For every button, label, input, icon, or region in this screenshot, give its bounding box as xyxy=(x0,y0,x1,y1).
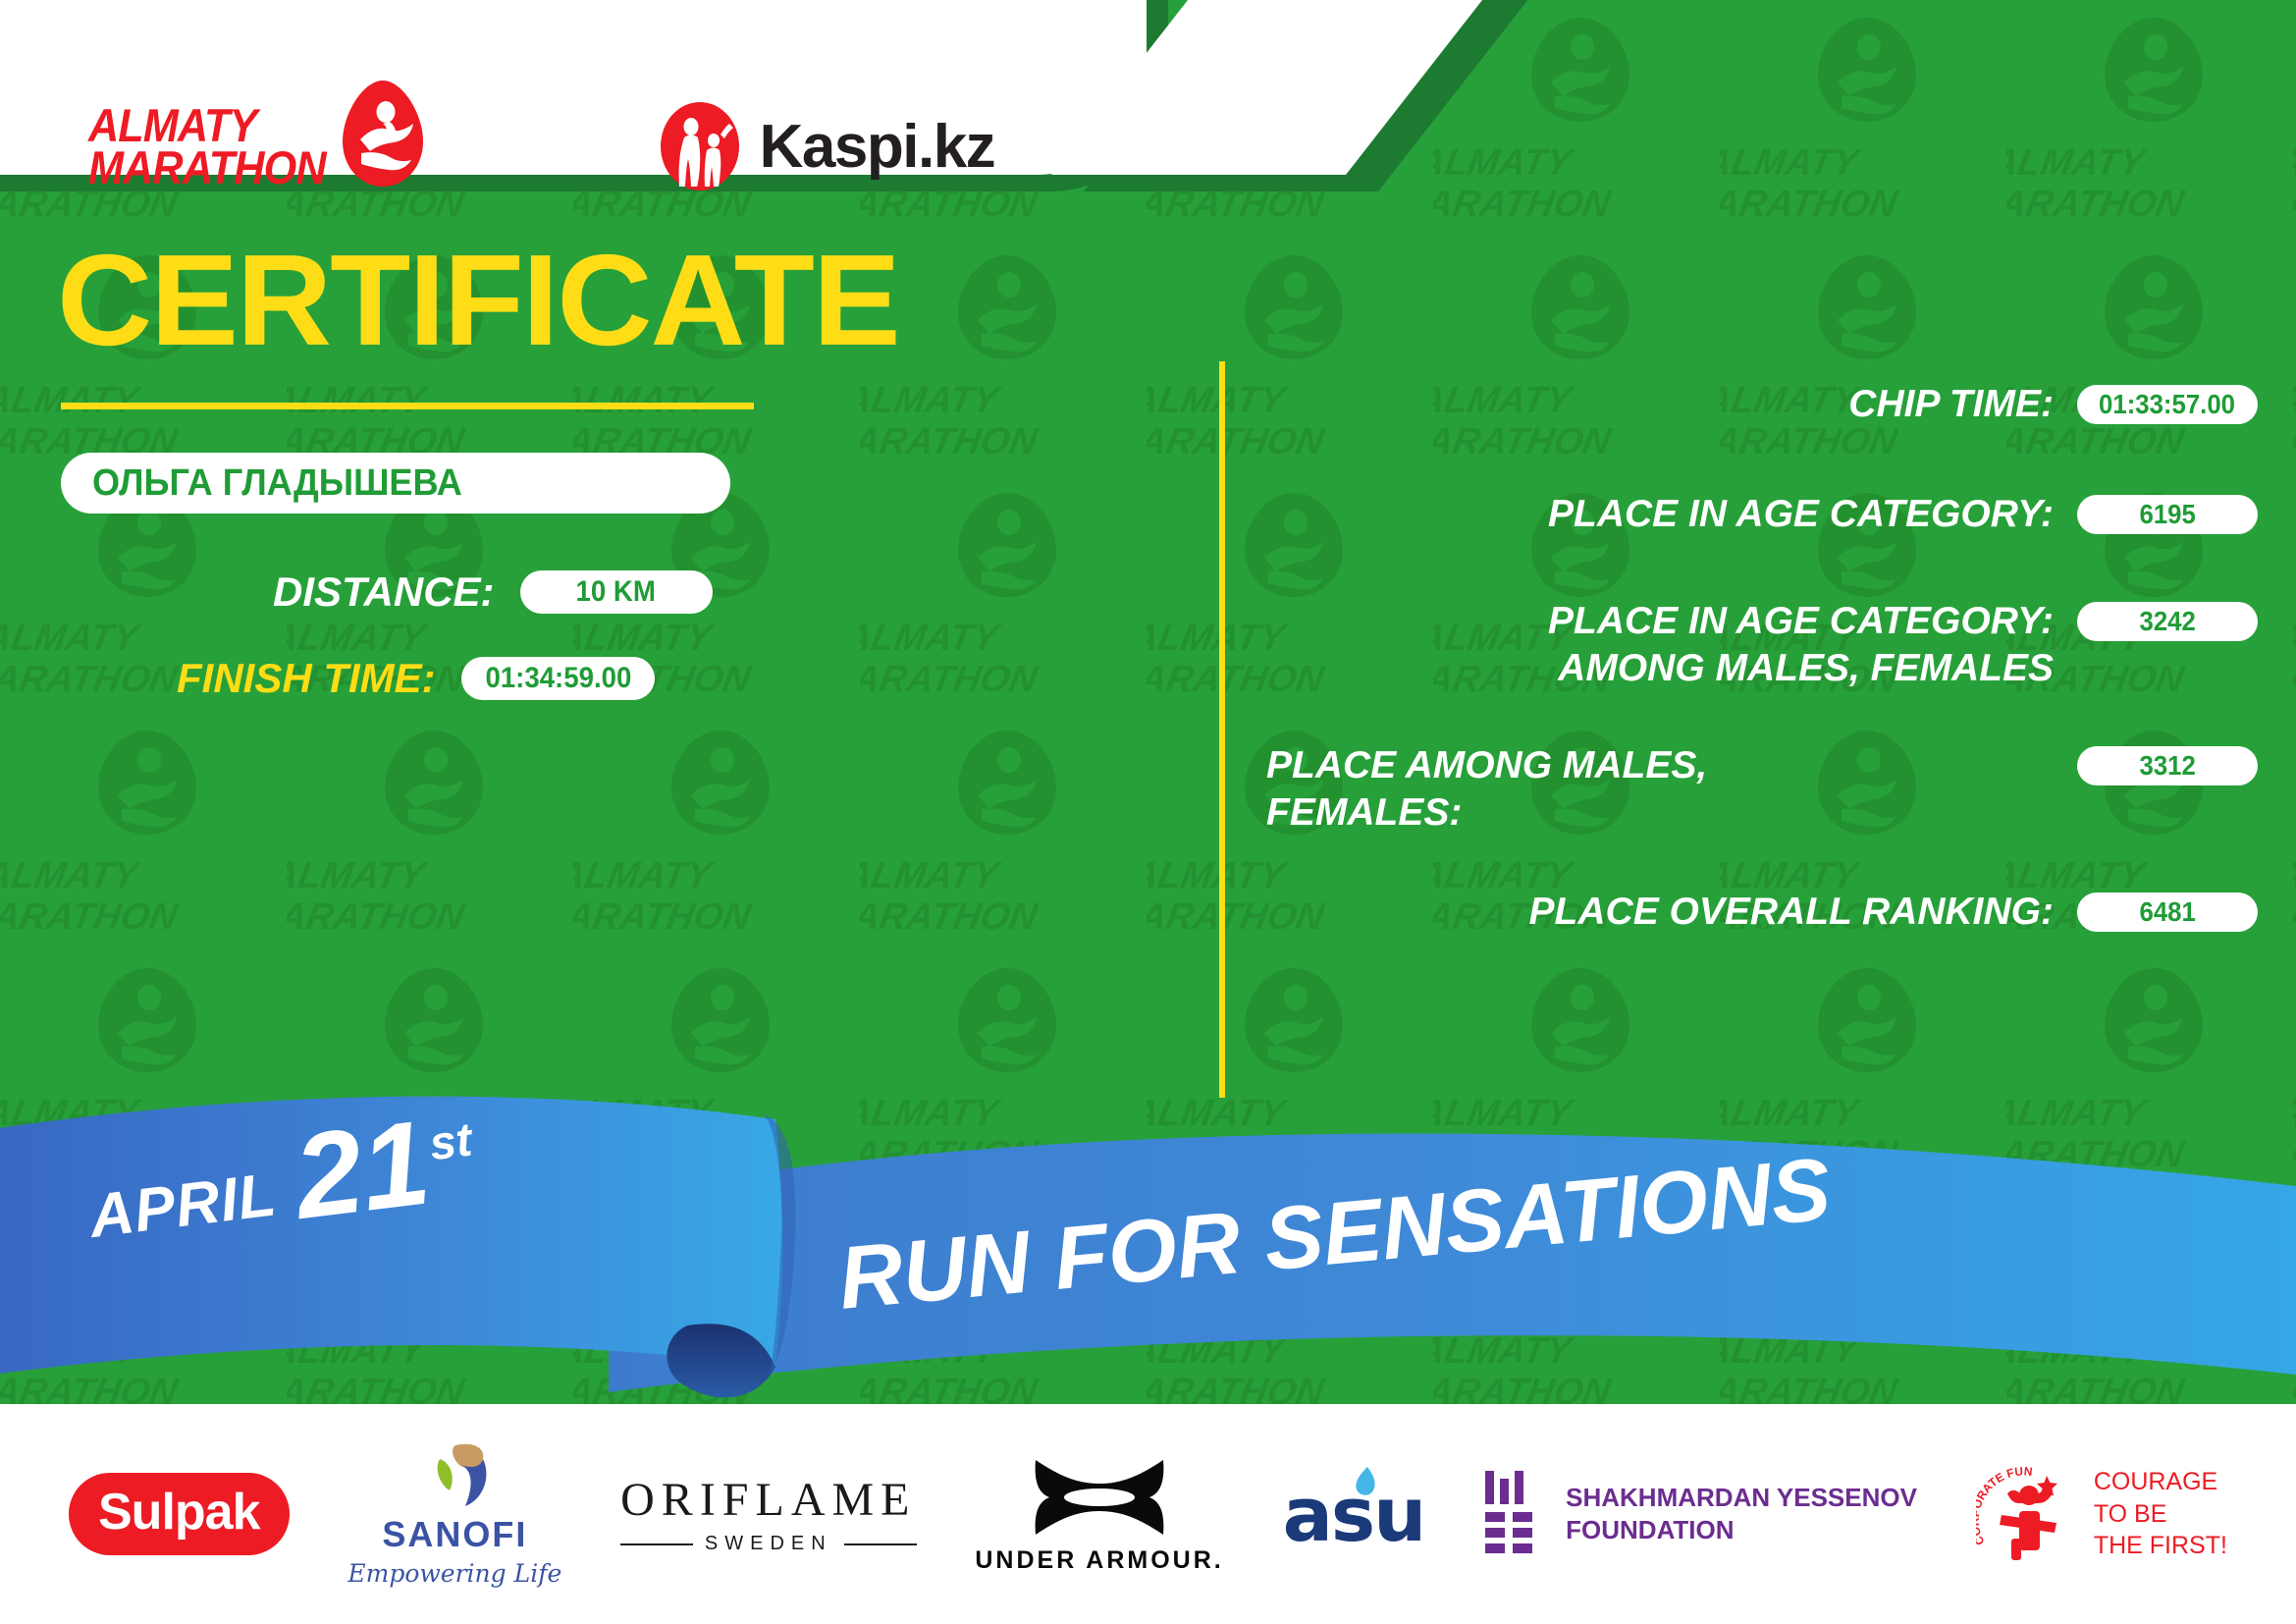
kaspi-logo: Kaspi.kz xyxy=(656,101,995,191)
sponsor-strip: Sulpak SANOFI Empowering Life ORIFLAME S… xyxy=(0,1404,2296,1624)
result-label: PLACE IN AGE CATEGORY: AMONG MALES, FEMA… xyxy=(1266,598,2054,691)
result-row: PLACE IN AGE CATEGORY: 6195 xyxy=(1266,491,2258,538)
result-value: 3312 xyxy=(2139,750,2195,782)
yessenov-wordmark: SHAKHMARDAN YESSENOV FOUNDATION xyxy=(1566,1482,1917,1547)
result-value-pill: 6195 xyxy=(2077,495,2258,534)
page-title: CERTIFICATE xyxy=(57,236,1241,365)
courage-wordmark: COURAGE TO BE THE FIRST! xyxy=(2094,1466,2227,1562)
oriflame-rule-left xyxy=(620,1543,693,1545)
result-value-pill: 01:33:57.00 xyxy=(2077,385,2258,424)
finish-time-row: FINISH TIME: 01:34:59.00 xyxy=(177,655,1217,702)
sanofi-icon xyxy=(400,1441,508,1512)
result-row: PLACE OVERALL RANKING: 6481 xyxy=(1266,889,2258,936)
distance-value: 10 KM xyxy=(576,575,656,609)
participant-name-field: ОЛЬГА ГЛАДЫШЕВА xyxy=(61,453,730,514)
almaty-marathon-wordmark: ALMATY MARATHON xyxy=(88,104,326,189)
result-label: PLACE AMONG MALES, FEMALES: xyxy=(1266,742,2054,836)
asu-wordmark: asu xyxy=(1283,1471,1425,1558)
result-row: PLACE AMONG MALES, FEMALES: 3312 xyxy=(1266,742,2258,836)
vertical-divider xyxy=(1219,361,1225,1098)
sponsor-under-armour: UNDER ARMOUR. xyxy=(975,1440,1223,1588)
under-armour-icon xyxy=(1026,1454,1173,1539)
certificate-canvas: ALMATY MARATHON ALMATY MARATHON xyxy=(0,0,2296,1624)
courage-runner-icon: CORPORATE FUND xyxy=(1976,1460,2078,1568)
participant-name-value: ОЛЬГА ГЛАДЫШЕВА xyxy=(92,462,462,505)
sanofi-tagline: Empowering Life xyxy=(347,1559,561,1588)
asu-droplet-icon xyxy=(1354,1465,1379,1498)
courage-line-1: COURAGE xyxy=(2094,1466,2227,1498)
logo-line-marathon: MARATHON xyxy=(88,146,326,189)
result-value: 3242 xyxy=(2139,606,2195,637)
result-value-pill: 3242 xyxy=(2077,602,2258,641)
left-column: CERTIFICATE ОЛЬГА ГЛАДЫШЕВА DISTANCE: 10… xyxy=(0,236,1217,702)
distance-row: DISTANCE: 10 KM xyxy=(273,568,1217,616)
result-row: PLACE IN AGE CATEGORY: AMONG MALES, FEMA… xyxy=(1266,598,2258,691)
sponsor-yessenov-foundation: SHAKHMARDAN YESSENOV FOUNDATION xyxy=(1483,1440,1917,1588)
result-value-pill: 6481 xyxy=(2077,893,2258,932)
result-value: 6195 xyxy=(2139,499,2195,530)
distance-value-pill: 10 KM xyxy=(520,570,713,614)
runner-drop-icon xyxy=(341,79,425,189)
event-day-suffix: st xyxy=(427,1113,475,1172)
logo-line-almaty: ALMATY xyxy=(88,104,326,146)
result-label: PLACE OVERALL RANKING: xyxy=(1266,889,2054,936)
result-row: CHIP TIME: 01:33:57.00 xyxy=(1266,381,2258,428)
result-label: CHIP TIME: xyxy=(1266,381,2054,428)
yessenov-line-2: FOUNDATION xyxy=(1566,1514,1917,1546)
result-value-pill: 3312 xyxy=(2077,746,2258,785)
oriflame-country: SWEDEN xyxy=(705,1533,832,1555)
result-value: 01:33:57.00 xyxy=(2100,389,2236,420)
kaspi-people-icon xyxy=(656,101,744,191)
courage-line-2: TO BE xyxy=(2094,1498,2227,1531)
almaty-marathon-logo: ALMATY MARATHON xyxy=(88,104,425,189)
sulpak-wordmark: Sulpak xyxy=(69,1473,290,1555)
results-column: CHIP TIME: 01:33:57.00 PLACE IN AGE CATE… xyxy=(1266,381,2258,981)
distance-label: DISTANCE: xyxy=(273,568,495,616)
sponsor-courage-fund: CORPORATE FUND COURAGE TO BE THE FIRST! xyxy=(1976,1440,2227,1588)
title-underline xyxy=(61,403,754,409)
oriflame-subline: SWEDEN xyxy=(620,1533,916,1555)
finish-time-label: FINISH TIME: xyxy=(177,655,436,702)
sponsor-asu: asu xyxy=(1283,1440,1425,1588)
kaspi-wordmark: Kaspi.kz xyxy=(760,112,995,182)
sanofi-wordmark: SANOFI xyxy=(382,1514,527,1555)
result-value: 6481 xyxy=(2139,896,2195,928)
sponsor-oriflame: ORIFLAME SWEDEN xyxy=(620,1440,916,1588)
event-day: 21 xyxy=(290,1112,434,1226)
result-label: PLACE IN AGE CATEGORY: xyxy=(1266,491,2054,538)
sponsor-sanofi: SANOFI Empowering Life xyxy=(347,1440,561,1588)
header-logos: ALMATY MARATHON xyxy=(39,59,1148,234)
oriflame-rule-right xyxy=(844,1543,917,1545)
under-armour-wordmark: UNDER ARMOUR. xyxy=(975,1546,1223,1575)
courage-line-3: THE FIRST! xyxy=(2094,1530,2227,1562)
oriflame-wordmark: ORIFLAME xyxy=(620,1473,916,1527)
finish-time-value: 01:34:59.00 xyxy=(485,662,631,695)
yessenov-line-1: SHAKHMARDAN YESSENOV xyxy=(1566,1482,1917,1514)
sponsor-sulpak: Sulpak xyxy=(69,1440,290,1588)
yessenov-bars-icon xyxy=(1483,1469,1542,1559)
finish-time-value-pill: 01:34:59.00 xyxy=(461,657,656,700)
